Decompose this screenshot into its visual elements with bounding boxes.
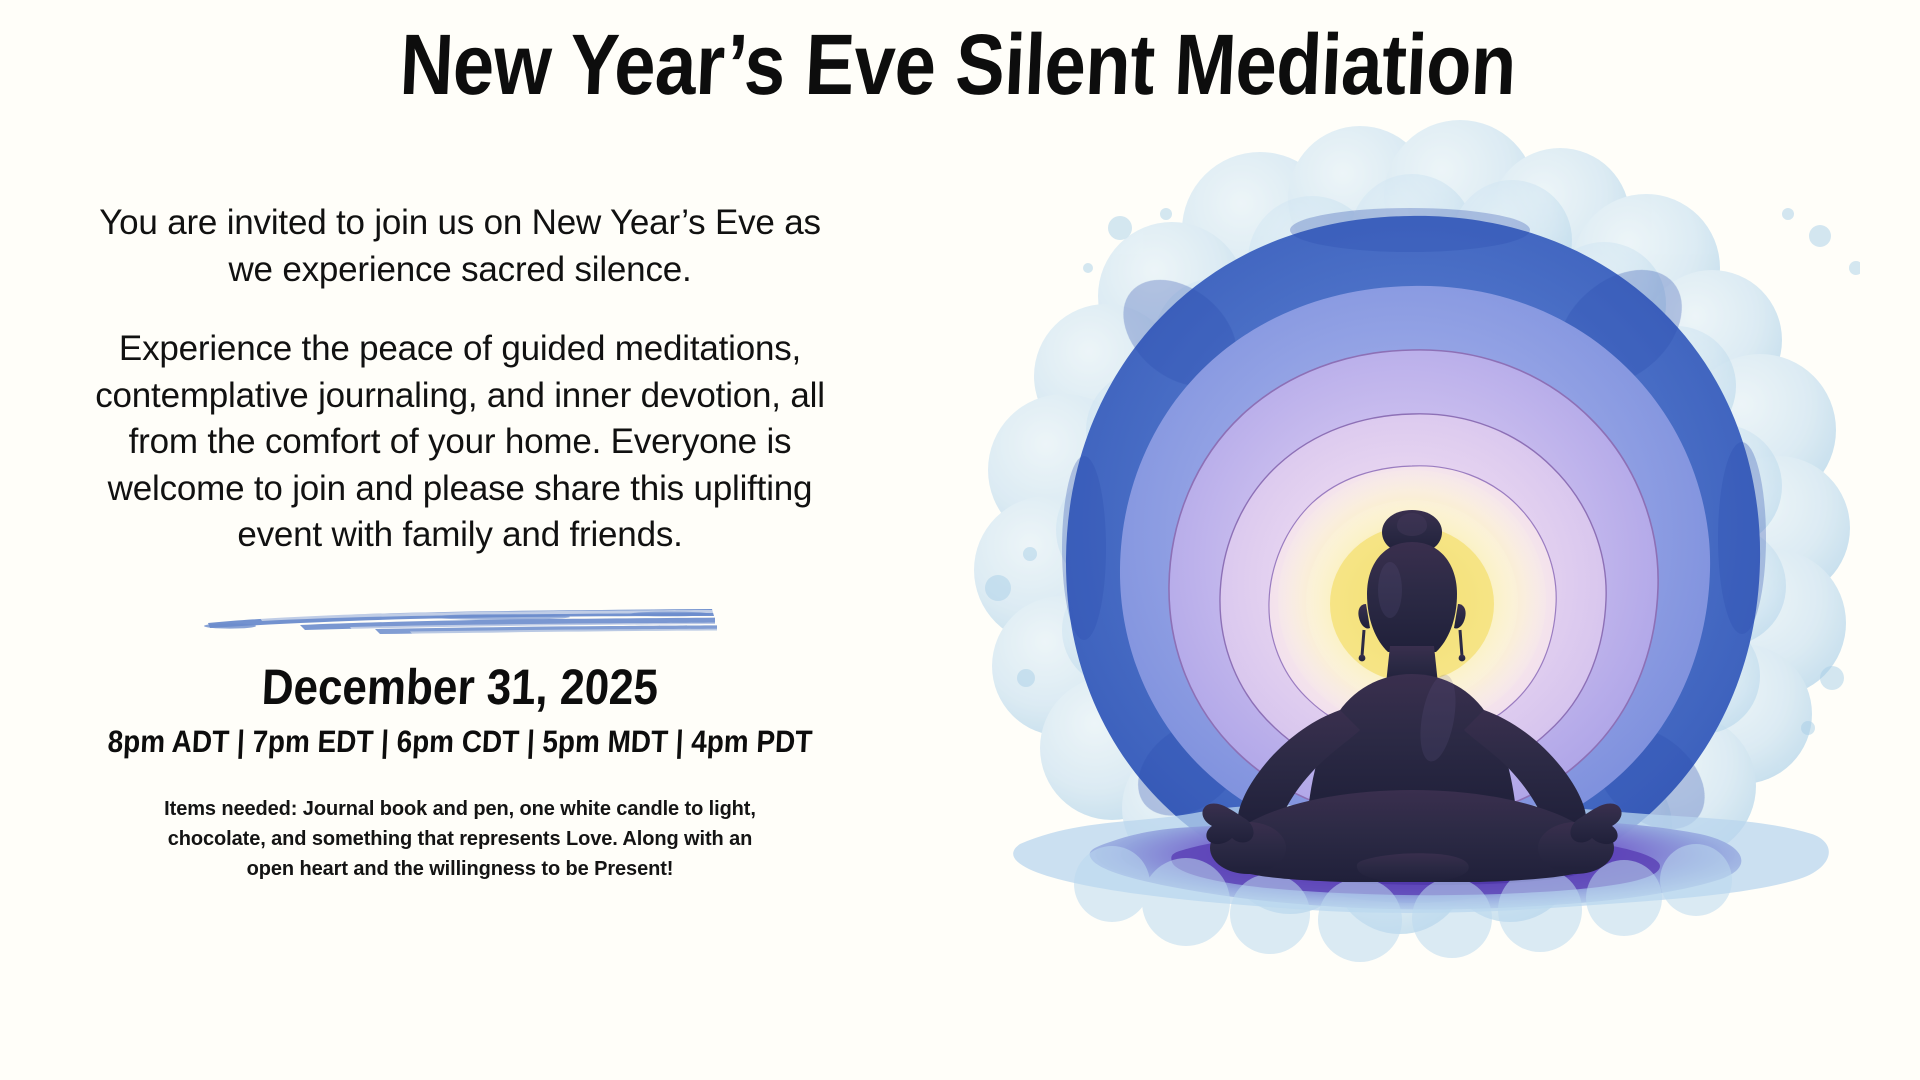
items-needed-note: Items needed: Journal book and pen, one … [45, 795, 875, 884]
illustration-container [960, 118, 1860, 998]
event-date: December 31, 2025 [94, 661, 827, 714]
event-timezones: 8pm ADT | 7pm EDT | 6pm CDT | 5pm MDT | … [86, 725, 835, 759]
invitation-paragraph: You are invited to join us on New Year’s… [45, 200, 875, 293]
divider [45, 603, 875, 637]
page-title: New Year’s Eve Silent Mediation [131, 22, 1786, 108]
meditation-mandala-icon [960, 118, 1860, 998]
description-paragraph: Experience the peace of guided meditatio… [45, 326, 875, 559]
flyer-canvas: New Year’s Eve Silent Mediation You are … [0, 0, 1920, 1080]
brush-stroke-icon [200, 605, 720, 635]
content-column: You are invited to join us on New Year’s… [45, 200, 875, 884]
